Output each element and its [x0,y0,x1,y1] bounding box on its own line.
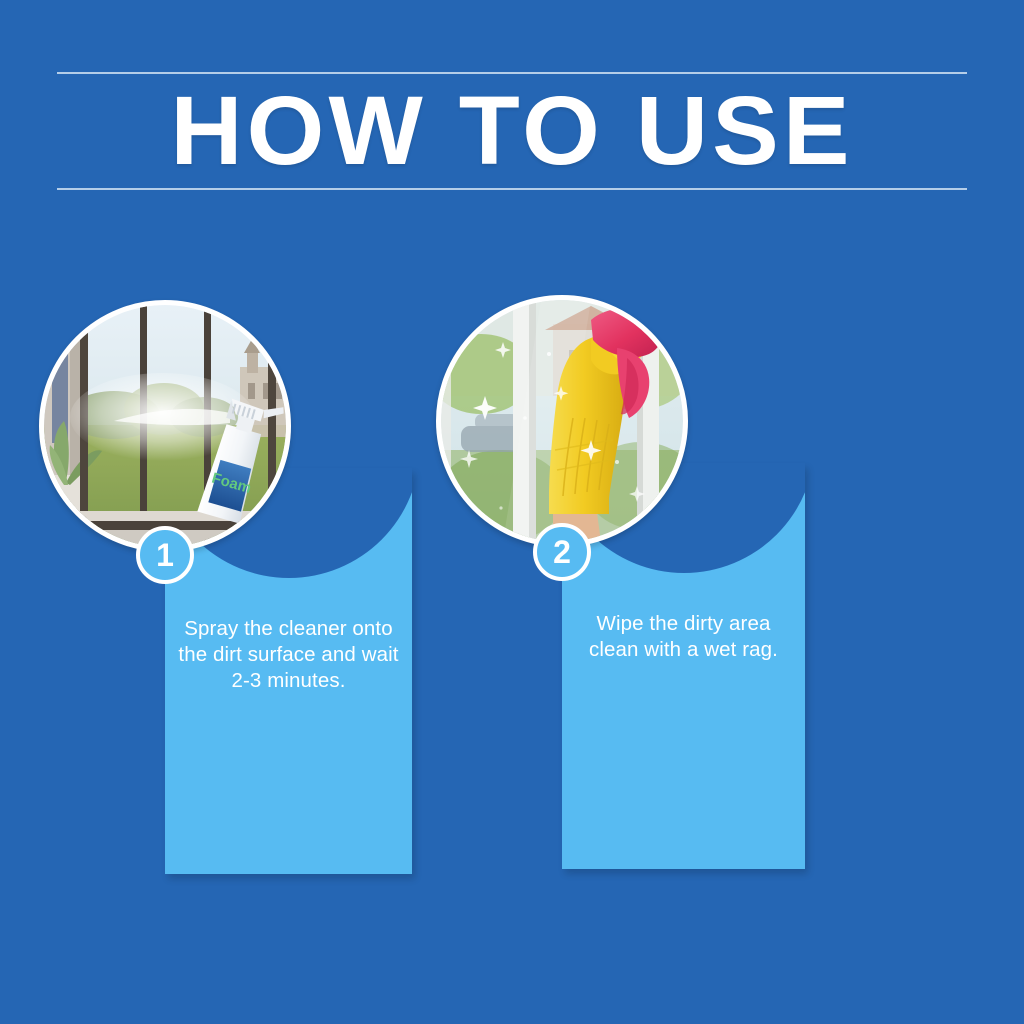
step-2-caption: Wipe the dirty area clean with a wet rag… [572,611,795,663]
step-1-photo: Foam [44,305,286,547]
step-1-photo-ring: Foam [39,300,291,552]
step-1-caption: Spray the cleaner onto the dirt surface … [177,616,400,694]
step-2-photo-ring [436,295,688,547]
infographic-canvas: HOW TO USE [0,0,1024,1024]
steps-container: Foam [0,0,1024,1024]
step-1-badge: 1 [136,526,194,584]
step-2-photo [441,300,683,542]
step-2-badge: 2 [533,523,591,581]
